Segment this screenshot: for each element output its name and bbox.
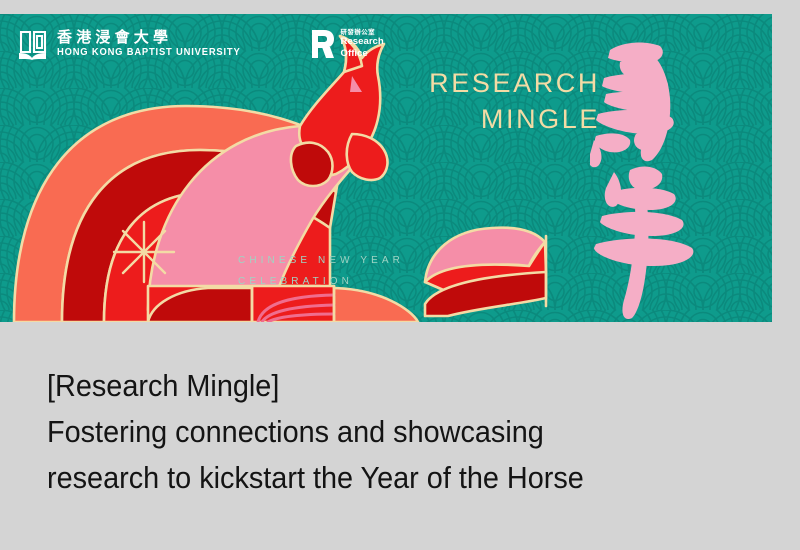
- logo-row: 香港浸會大學 HONG KONG BAPTIST UNIVERSITY 研發辦公…: [18, 28, 384, 60]
- hkbu-name-en: HONG KONG BAPTIST UNIVERSITY: [57, 48, 241, 58]
- r-monogram-icon: [309, 29, 335, 59]
- research-office-name-en-line1: Research: [341, 36, 384, 47]
- banner-title: RESEARCH MINGLE: [300, 66, 600, 137]
- hkbu-name-zh: 香港浸會大學: [57, 30, 257, 45]
- banner-subtitle: CHINESE NEW YEAR CELEBRATION: [238, 251, 404, 292]
- research-office-name-en-line2: Office: [341, 48, 384, 59]
- caption-line-2: Fostering connections and showcasing: [47, 409, 707, 455]
- hkbu-logo[interactable]: 香港浸會大學 HONG KONG BAPTIST UNIVERSITY: [18, 28, 257, 60]
- article-caption: [Research Mingle] Fostering connections …: [47, 363, 707, 501]
- event-banner: RESEARCH MINGLE CHINESE NEW YEAR CELEBRA…: [0, 14, 772, 322]
- banner-title-line1: RESEARCH: [300, 66, 600, 102]
- banner-title-line2: MINGLE: [300, 102, 600, 138]
- caption-line-3: research to kickstart the Year of the Ho…: [47, 455, 707, 501]
- calligraphy-year-of-horse-icon: [590, 32, 700, 322]
- banner-subtitle-line2: CELEBRATION: [238, 272, 404, 293]
- research-office-name-zh: 研發辦公室: [341, 29, 384, 37]
- banner-subtitle-line1: CHINESE NEW YEAR: [238, 251, 404, 272]
- caption-line-1: [Research Mingle]: [47, 363, 707, 409]
- research-office-logo[interactable]: 研發辦公室 Research Office: [309, 29, 384, 59]
- open-book-icon: [18, 28, 48, 60]
